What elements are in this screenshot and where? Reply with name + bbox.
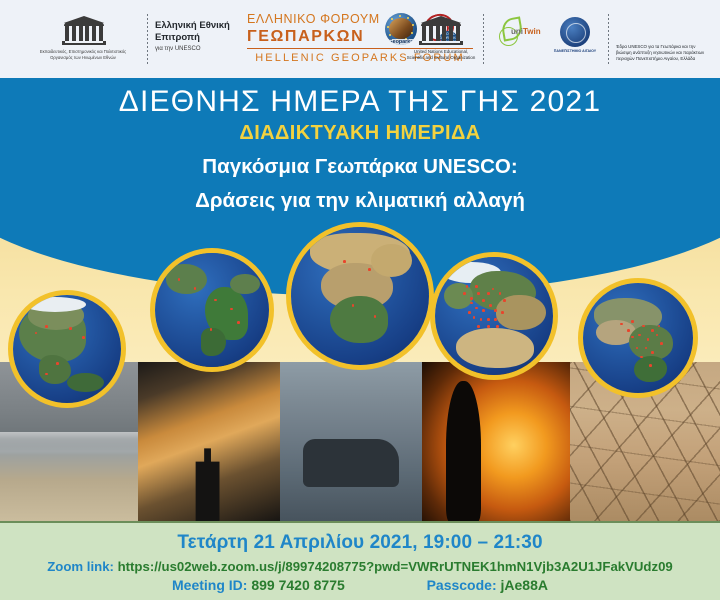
unesco-temple-icon-right [418, 16, 464, 46]
topic-line-2: Δράσεις για την κλιματική αλλαγή [0, 187, 720, 214]
unesco-left-caption: Εκπαιδευτικός, Επιστημονικός και Πολιτισ… [28, 49, 138, 60]
unesco-temple-icon [61, 16, 107, 46]
meeting-credentials-row: Meeting ID: 899 7420 8775 Passcode: jAe8… [0, 576, 720, 594]
meeting-id-label: Meeting ID: [172, 577, 247, 593]
passcode-value[interactable]: jAe88A [501, 577, 548, 593]
meeting-id-value[interactable]: 899 7420 8775 [251, 577, 344, 593]
unesco-chair-caption: Έδρα UNESCO για τα Γεωπάρκα και την βιώσ… [616, 14, 712, 62]
header-logo-bar: Εκπαιδευτικός, Επιστημονικός και Πολιτισ… [0, 0, 720, 80]
forum-line1: ΕΛΛΗΝΙΚΟ ΦΟΡΟΥΜ [247, 12, 380, 27]
page-subtitle: ΔΙΑΔΙΚΤΥΑΚΗ ΗΜΕΡΙΔΑ [0, 120, 720, 146]
zoom-link-url[interactable]: https://us02web.zoom.us/j/89974208775?pw… [118, 559, 673, 574]
logo-divider-dots-right2 [608, 14, 609, 66]
photo-wildfire [422, 362, 570, 522]
commission-name-line3: για την UNESCO [155, 44, 230, 54]
logo-divider-dots [147, 14, 148, 66]
event-datetime: Τετάρτη 21 Απριλίου 2021, 19:00 – 21:30 [0, 523, 720, 554]
unitwin-label2: Twin [523, 27, 541, 36]
unitwin-label: uni [511, 27, 523, 36]
commission-name-line2: Επιτροπή [155, 32, 230, 44]
globe-africa [286, 222, 434, 370]
logo-divider-dots-right [483, 14, 484, 66]
university-of-aegean-seal: ΠΑΝΕΠΙΣΤΗΜΙΟ ΑΙΓΑΙΟΥ [549, 14, 601, 54]
passcode-label: Passcode: [427, 577, 497, 593]
zoom-link-row: Zoom link: https://us02web.zoom.us/j/899… [0, 558, 720, 575]
commission-name-line1: Ελληνική Εθνική [155, 20, 230, 32]
unesco-right-caption: United Nations Educational, Scientific a… [406, 49, 476, 61]
forum-line2: ΓΕΩΠΑΡΚΩΝ [247, 27, 380, 46]
photo-industrial-pollution [138, 362, 280, 522]
footer-info-band: Τετάρτη 21 Απριλίου 2021, 19:00 – 21:30 … [0, 521, 720, 600]
unitwin-icon: uniTwin [491, 14, 549, 47]
aegean-seal-label: ΠΑΝΕΠΙΣΤΗΜΙΟ ΑΙΓΑΙΟΥ [549, 49, 601, 54]
title-block: ΔΙΕΘΝΗΣ ΗΜΕΡΑ ΤΗΣ ΓΗΣ 2021 ΔΙΑΔΙΚΤΥΑΚΗ Η… [0, 84, 720, 214]
photo-flooded-street [280, 362, 422, 522]
unesco-chair-logo-group: United Nations Educational, Scientific a… [406, 14, 712, 66]
greek-unesco-commission-logo: Εκπαιδευτικός, Επιστημονικός και Πολιτισ… [28, 14, 230, 66]
zoom-link-label: Zoom link: [47, 559, 114, 574]
poster-root: Εκπαιδευτικός, Επιστημονικός και Πολιτισ… [0, 0, 720, 600]
globe-europe [430, 252, 558, 380]
page-title: ΔΙΕΘΝΗΣ ΗΜΕΡΑ ΤΗΣ ΓΗΣ 2021 [0, 84, 720, 120]
topic-line-1: Παγκόσμια Γεωπάρκα UNESCO: [0, 153, 720, 180]
globe-asia [578, 278, 698, 398]
globe-south-america [150, 248, 274, 372]
globe-north-america [8, 290, 126, 408]
